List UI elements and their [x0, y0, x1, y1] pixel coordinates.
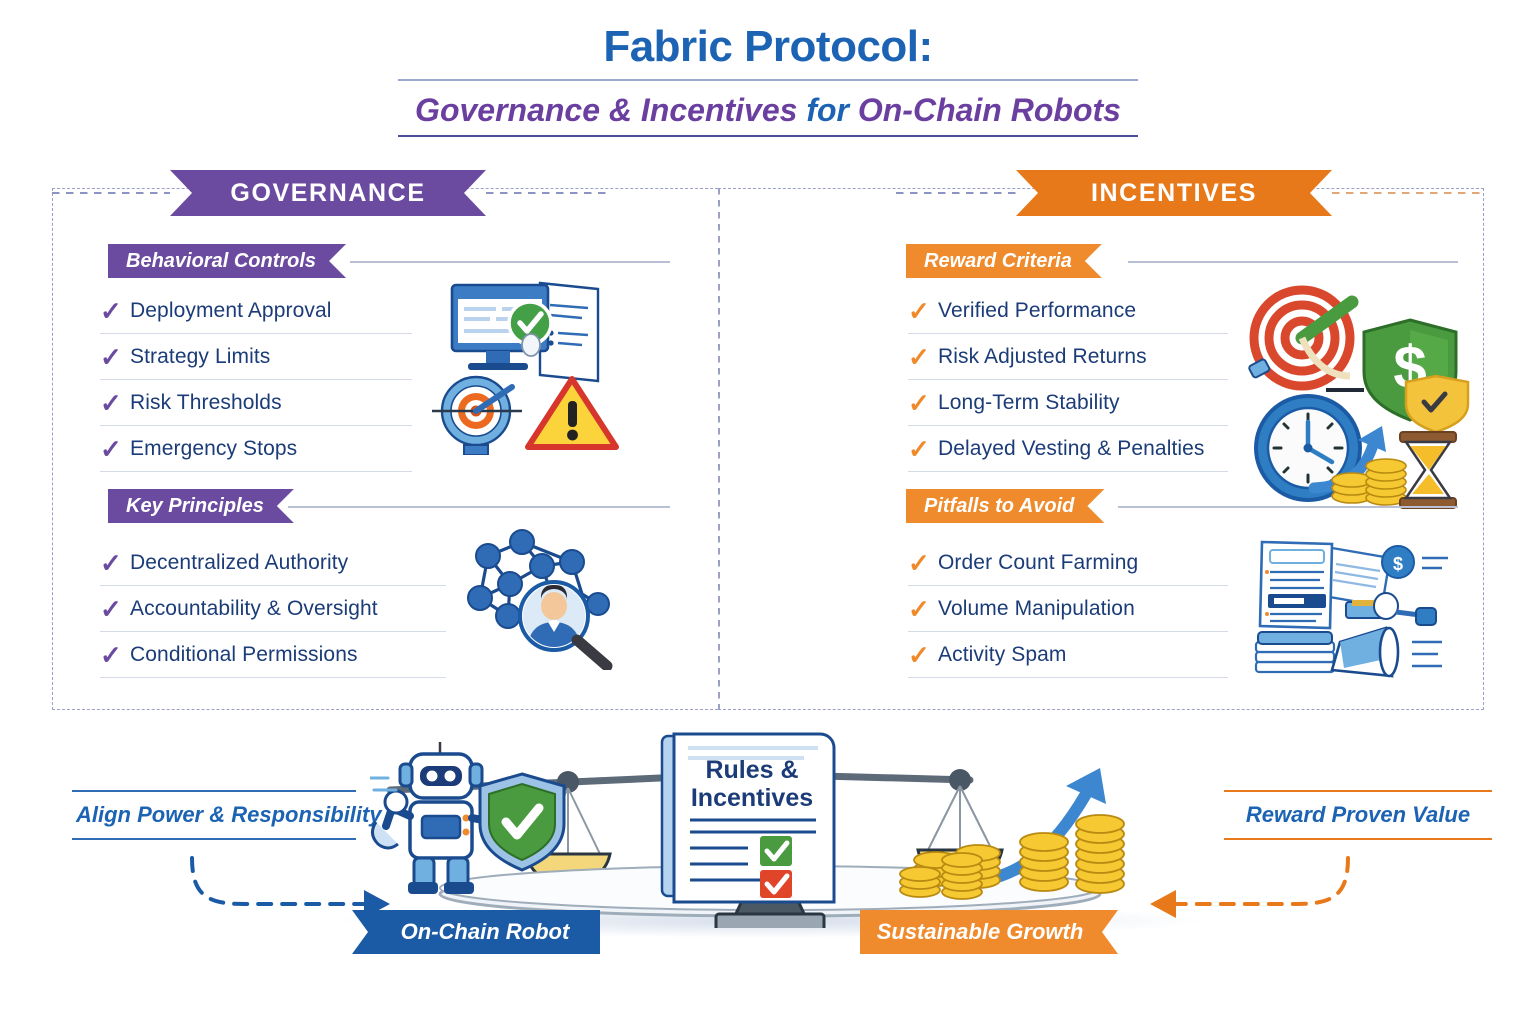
- document-title-line2: Incentives: [691, 784, 813, 812]
- banner-incentives: INCENTIVES: [1016, 170, 1332, 216]
- network-oversight-magnifier-icon: [450, 528, 640, 670]
- check-icon: ✓: [908, 390, 938, 416]
- tag-behavioral-controls: Behavioral Controls: [108, 244, 346, 278]
- check-icon: ✓: [100, 596, 130, 622]
- list-item: ✓ Strategy Limits: [100, 334, 412, 380]
- list-item: ✓ Decentralized Authority: [100, 540, 446, 586]
- list-item: ✓ Conditional Permissions: [100, 632, 446, 678]
- tag-rule-pitfalls: [1118, 506, 1458, 508]
- tag-key-principles: Key Principles: [108, 489, 294, 523]
- rules-and-incentives-document: Rules & Incentives: [648, 726, 848, 908]
- list-item-label: Conditional Permissions: [130, 643, 358, 667]
- list-item-label: Emergency Stops: [130, 437, 297, 461]
- list-item: ✓ Long-Term Stability: [908, 380, 1228, 426]
- check-icon: ✓: [100, 642, 130, 668]
- governance-banner-dash-left: [52, 192, 170, 194]
- coin-cluster-icon: [890, 808, 1010, 908]
- list-item-label: Deployment Approval: [130, 299, 332, 323]
- check-icon: ✓: [908, 550, 938, 576]
- check-icon: ✓: [908, 344, 938, 370]
- list-item: ✓ Risk Adjusted Returns: [908, 334, 1228, 380]
- incentives-banner-dash-right: [1332, 192, 1484, 194]
- list-item-label: Order Count Farming: [938, 551, 1138, 575]
- header-block: Fabric Protocol: Governance & Incentives…: [0, 22, 1536, 137]
- list-item-label: Accountability & Oversight: [130, 597, 378, 621]
- check-icon: ✓: [100, 298, 130, 324]
- tag-rule-reward-criteria: [1128, 261, 1458, 263]
- note-label: Reward Proven Value: [1224, 792, 1492, 838]
- tag-reward-criteria: Reward Criteria: [906, 244, 1102, 278]
- check-icon: ✓: [100, 436, 130, 462]
- list-pitfalls-to-avoid: ✓ Order Count Farming ✓ Volume Manipulat…: [908, 540, 1228, 678]
- tag-pitfalls-to-avoid: Pitfalls to Avoid: [906, 489, 1104, 523]
- list-item-label: Risk Adjusted Returns: [938, 345, 1147, 369]
- tag-rule-behavioral: [350, 261, 670, 263]
- check-icon: ✓: [100, 550, 130, 576]
- robot-with-shield-icon: [370, 740, 570, 912]
- list-item-label: Volume Manipulation: [938, 597, 1135, 621]
- banner-sustainable-growth: Sustainable Growth: [860, 910, 1118, 954]
- panel-divider: [718, 188, 720, 710]
- list-item: ✓ Accountability & Oversight: [100, 586, 446, 632]
- check-icon: ✓: [908, 436, 938, 462]
- list-item: ✓ Activity Spam: [908, 632, 1228, 678]
- list-item-label: Verified Performance: [938, 299, 1136, 323]
- list-reward-criteria: ✓ Verified Performance ✓ Risk Adjusted R…: [908, 288, 1228, 472]
- subtitle-part-2: On-Chain Robots: [858, 92, 1121, 128]
- note-rule-bottom: [72, 838, 356, 840]
- document-title-line1: Rules &: [705, 756, 798, 784]
- governance-banner-dash-right: [486, 192, 610, 194]
- check-icon: ✓: [100, 390, 130, 416]
- subtitle-accent-word: for: [806, 92, 858, 128]
- check-icon: ✓: [100, 344, 130, 370]
- svg-text:$: $: [1393, 554, 1403, 574]
- note-reward-proven-value: Reward Proven Value: [1224, 790, 1492, 840]
- target-shield-clock-hourglass-coins-icon: $: [1240, 280, 1480, 510]
- note-rule-bottom: [1224, 838, 1492, 840]
- list-key-principles: ✓ Decentralized Authority ✓ Accountabili…: [100, 540, 446, 678]
- note-label: Align Power & Responsibility: [72, 792, 356, 838]
- list-item: ✓ Delayed Vesting & Penalties: [908, 426, 1228, 472]
- documents-megaphone-spam-icon: $: [1240, 530, 1470, 682]
- list-item: ✓ Deployment Approval: [100, 288, 412, 334]
- list-item-label: Risk Thresholds: [130, 391, 282, 415]
- list-item-label: Delayed Vesting & Penalties: [938, 437, 1205, 461]
- monitor-approval-target-warning-icon: [430, 275, 630, 455]
- list-item: ✓ Emergency Stops: [100, 426, 412, 472]
- banner-governance: GOVERNANCE: [170, 170, 486, 216]
- list-item-label: Decentralized Authority: [130, 551, 348, 575]
- note-align-power: Align Power & Responsibility: [72, 790, 356, 840]
- list-item: ✓ Risk Thresholds: [100, 380, 412, 426]
- check-icon: ✓: [908, 642, 938, 668]
- incentives-banner-dash-left: [896, 192, 1016, 194]
- list-item-label: Strategy Limits: [130, 345, 270, 369]
- tag-rule-key-principles: [288, 506, 670, 508]
- bottom-summary-section: Align Power & Responsibility Reward Prov…: [0, 712, 1536, 1024]
- page-subtitle: Governance & Incentives for On-Chain Rob…: [0, 91, 1536, 129]
- check-icon: ✓: [908, 596, 938, 622]
- list-item-label: Activity Spam: [938, 643, 1067, 667]
- list-item: ✓ Order Count Farming: [908, 540, 1228, 586]
- list-item: ✓ Volume Manipulation: [908, 586, 1228, 632]
- title-divider-top: [398, 79, 1138, 81]
- banner-on-chain-robot: On-Chain Robot: [352, 910, 600, 954]
- subtitle-part-1: Governance & Incentives: [415, 92, 806, 128]
- list-item-label: Long-Term Stability: [938, 391, 1120, 415]
- title-divider-bottom: [398, 135, 1138, 138]
- check-icon: ✓: [908, 298, 938, 324]
- list-item: ✓ Verified Performance: [908, 288, 1228, 334]
- list-behavioral-controls: ✓ Deployment Approval ✓ Strategy Limits …: [100, 288, 412, 472]
- page-title: Fabric Protocol:: [0, 22, 1536, 73]
